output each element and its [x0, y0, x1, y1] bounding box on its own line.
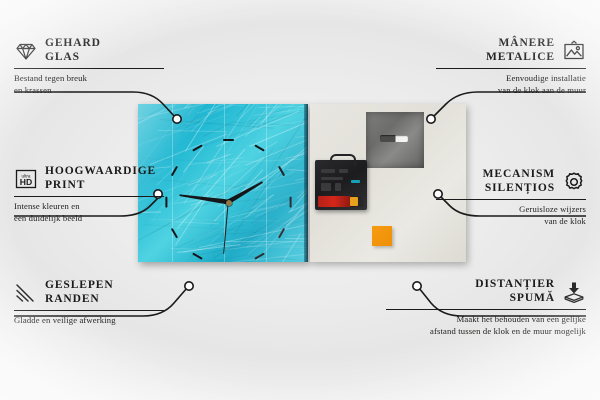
callout-title-line1: MECANISM — [483, 168, 555, 182]
callout-subtitle-line2: een duidelijk beeld — [14, 213, 164, 225]
callout-manere-metalice: MÂNERE METALICE Eenvoudige installatie v… — [436, 37, 586, 96]
glass-edge — [304, 104, 308, 262]
callout-subtitle-line2: van de klok — [436, 216, 586, 228]
foam-spacer-piece — [372, 226, 392, 246]
product-image — [138, 104, 466, 272]
callout-subtitle-line1: Intense kleuren en — [14, 201, 164, 213]
callout-header: MÂNERE METALICE — [436, 37, 586, 64]
callout-header: MECANISM SILENȚIOS — [436, 168, 586, 195]
callout-header: ultra HD HOOGWAARDIGE PRINT — [14, 165, 164, 192]
metal-hanger-plate — [366, 112, 424, 168]
callout-distantier-spuma: DISTANȚIER SPUMĂ Maakt het behouden van … — [386, 278, 586, 337]
mechanism-hanging-loop — [330, 154, 356, 166]
callout-divider — [14, 68, 164, 69]
ultra-hd-large-text: HD — [20, 177, 32, 187]
callout-title-line1: GESLEPEN — [45, 279, 114, 293]
callout-title-line2: METALICE — [486, 51, 555, 65]
picture-hanger-icon — [562, 39, 586, 63]
callout-divider — [14, 196, 164, 197]
gear-icon — [562, 170, 586, 194]
callout-header: GEHARD GLAS — [14, 37, 164, 64]
callout-subtitle-line2: afstand tussen de klok en de muur mogeli… — [386, 326, 586, 338]
callout-subtitle-line1: Eenvoudige installatie — [436, 73, 586, 85]
callout-subtitle-line1: Gladde en veilige afwerking — [14, 315, 164, 327]
callout-mecanism-silentios: MECANISM SILENȚIOS Geruisloze wijzers va… — [436, 168, 586, 227]
callout-title-line2: RANDEN — [45, 293, 114, 307]
connector-dot — [185, 282, 193, 290]
foam-spacer-icon — [562, 280, 586, 304]
hanger-slot — [380, 135, 408, 142]
clock-mechanism — [315, 160, 367, 210]
infographic-canvas: GEHARD GLAS Bestand tegen breuk en krass… — [0, 0, 600, 400]
callout-title-line1: MÂNERE — [486, 37, 555, 51]
battery-compartment — [318, 196, 364, 207]
callout-subtitle-line1: Maakt het behouden van een gelijke — [386, 314, 586, 326]
callout-title-line2: SILENȚIOS — [483, 182, 555, 196]
callout-title-line1: HOOGWAARDIGE — [45, 165, 156, 179]
callout-header: GESLEPEN RANDEN — [14, 279, 164, 306]
callout-title-line2: SPUMĂ — [475, 292, 555, 306]
callout-divider — [436, 199, 586, 200]
callout-subtitle-line2: van de klok aan de muur — [436, 85, 586, 97]
callout-title-line1: GEHARD — [45, 37, 101, 51]
callout-divider — [436, 68, 586, 69]
callout-subtitle-line1: Geruisloze wijzers — [436, 204, 586, 216]
beveled-edges-icon — [14, 281, 38, 305]
callout-subtitle-line1: Bestand tegen breuk — [14, 73, 164, 85]
battery-terminal — [350, 197, 358, 206]
callout-hoogwaardige-print: ultra HD HOOGWAARDIGE PRINT Intense kleu… — [14, 165, 164, 224]
callout-title-line2: GLAS — [45, 51, 101, 65]
callout-subtitle-line2: en krassen — [14, 85, 164, 97]
callout-divider — [14, 310, 164, 311]
callout-title-line1: DISTANȚIER — [475, 278, 555, 292]
diamond-icon — [14, 39, 38, 63]
callout-divider — [386, 309, 586, 310]
callout-header: DISTANȚIER SPUMĂ — [386, 278, 586, 305]
callout-geslepen-randen: GESLEPEN RANDEN Gladde en veilige afwerk… — [14, 279, 164, 327]
callout-gehard-glas: GEHARD GLAS Bestand tegen breuk en krass… — [14, 37, 164, 96]
callout-title-line2: PRINT — [45, 179, 156, 193]
ultra-hd-icon: ultra HD — [14, 167, 38, 191]
